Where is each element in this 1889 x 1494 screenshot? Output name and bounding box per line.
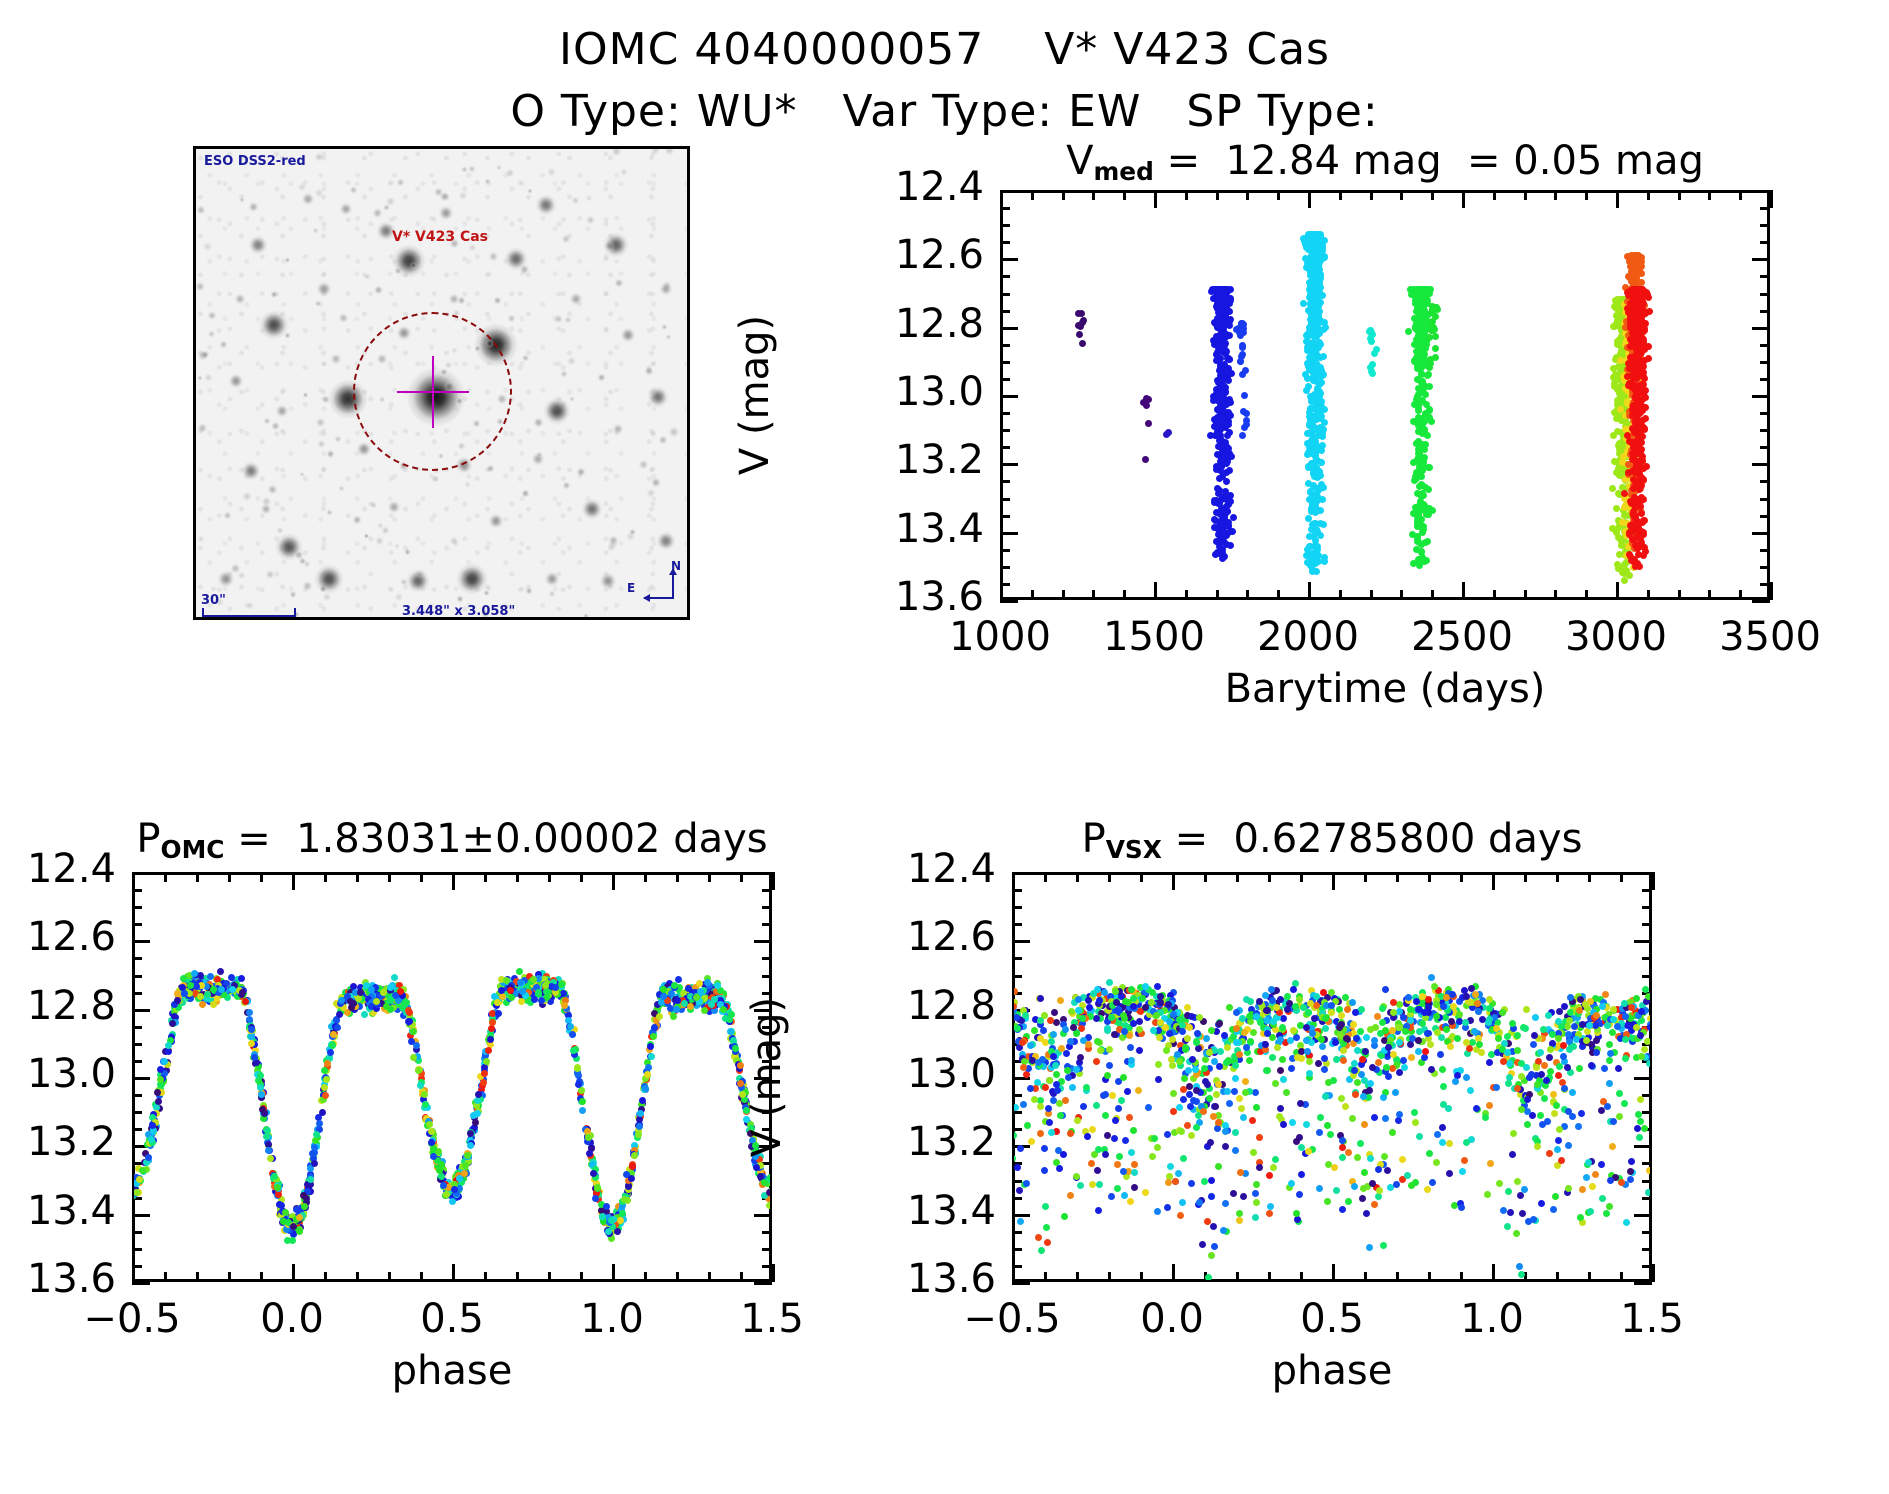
data-point [1164, 1204, 1171, 1211]
y-axis-tick-label: 12.8 [796, 983, 996, 1029]
y-axis-tick [1012, 1282, 1030, 1285]
plot-title: PVSX = 0.62785800 days [852, 816, 1812, 864]
data-point [1433, 1159, 1440, 1166]
y-axis-tick-label: 12.4 [796, 846, 996, 892]
data-point [1604, 1103, 1611, 1110]
x-axis-tick-label: 1.5 [1542, 1296, 1762, 1342]
data-point [1592, 1171, 1599, 1178]
data-point [1289, 1119, 1296, 1126]
y-axis-tick [1634, 1282, 1652, 1285]
data-point [1283, 1089, 1290, 1096]
data-point [1040, 1027, 1047, 1034]
y-axis-tick-label: 13.0 [796, 1051, 996, 1097]
data-point [1023, 1180, 1030, 1187]
data-point [1616, 1113, 1623, 1120]
data-points-layer [1014, 874, 1650, 1280]
data-point [1246, 1057, 1253, 1064]
data-point [1240, 1114, 1247, 1121]
data-point [1517, 1192, 1524, 1199]
data-point [1042, 1203, 1049, 1210]
data-point [1439, 1066, 1446, 1073]
data-point [1122, 1137, 1129, 1144]
data-point [1267, 1203, 1274, 1210]
data-point [1184, 1004, 1191, 1011]
y-axis-tick-label: 13.6 [796, 1256, 996, 1302]
data-point [1102, 1112, 1109, 1119]
y-axis-tick-label: 12.6 [796, 914, 996, 960]
y-axis-label: V (mag) [744, 947, 790, 1207]
x-axis-label: phase [1012, 1348, 1652, 1394]
phase-vsx-panel: PVSX = 0.62785800 days−0.50.00.51.01.512… [0, 0, 1889, 1494]
data-point [1345, 1149, 1352, 1156]
x-axis-tick [1652, 872, 1655, 890]
y-axis-tick-label: 13.4 [796, 1188, 996, 1234]
data-point [1344, 1006, 1351, 1013]
data-point [1111, 1135, 1118, 1142]
data-point [1641, 1125, 1648, 1132]
data-point [1606, 1041, 1613, 1048]
data-point [1427, 1041, 1434, 1048]
data-point [1357, 1140, 1364, 1147]
data-point [1041, 1145, 1048, 1152]
x-axis-tick [1652, 1264, 1655, 1282]
data-point [1014, 988, 1018, 995]
data-point [1124, 1088, 1131, 1095]
y-axis-tick-label: 13.2 [796, 1119, 996, 1165]
data-point [1242, 1078, 1249, 1085]
data-point [1238, 1105, 1245, 1112]
